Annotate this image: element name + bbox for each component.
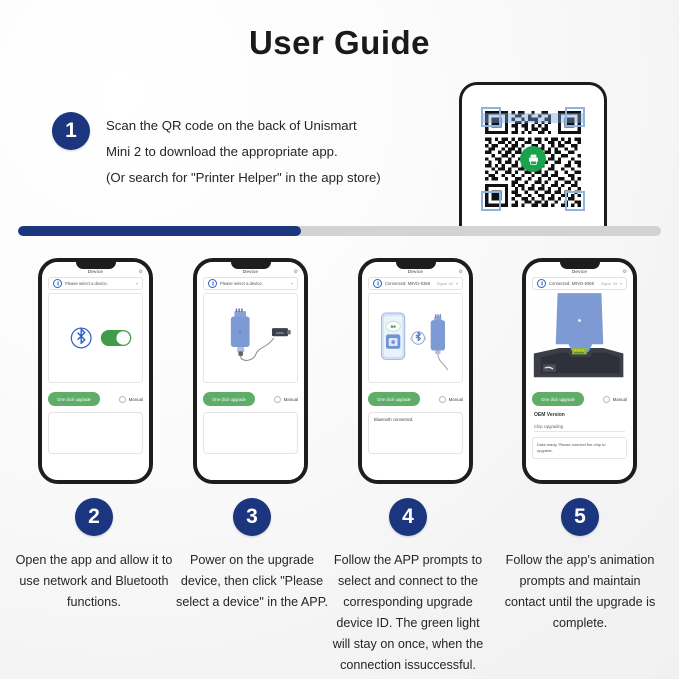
chip-contact-animation-canvas bbox=[532, 293, 627, 381]
step-1-block: 1 Scan the QR code on the back of Unisma… bbox=[52, 112, 381, 191]
device-select-bar[interactable]: Connected: M9VD-9368 Signal -45 ▾ bbox=[532, 277, 627, 290]
one-click-upgrade-button[interactable]: One click upgrade bbox=[368, 392, 420, 406]
status-message: Data ready. Please connect the chip to u… bbox=[532, 437, 627, 459]
action-controls: One click upgrade Manual bbox=[368, 390, 463, 408]
gear-icon[interactable]: ⚙ bbox=[459, 269, 463, 275]
step-3-badge: 3 bbox=[233, 498, 271, 536]
device-select-text: Please select a device. bbox=[65, 281, 133, 286]
manual-option[interactable]: Manual bbox=[119, 396, 143, 403]
bluetooth-icon bbox=[373, 279, 382, 288]
radio-icon[interactable] bbox=[274, 396, 281, 403]
caption-step-3: 3 Power on the upgrade device, then clic… bbox=[172, 498, 332, 613]
caption-step-5: 5 Follow the app's animation prompts and… bbox=[500, 498, 660, 634]
device-select-bar[interactable]: Please select a device. ▾ bbox=[48, 277, 143, 290]
manual-label: Manual bbox=[613, 397, 627, 402]
connected-device-text: Connected: M9VD-9368 bbox=[385, 281, 434, 286]
svg-text:DATA: DATA bbox=[276, 331, 285, 335]
step-3-text: Power on the upgrade device, then click … bbox=[172, 550, 332, 613]
gear-icon[interactable]: ⚙ bbox=[139, 269, 143, 275]
phone-step4: Device ⚙ Connected: M9VD-9368 Signal -54… bbox=[358, 258, 473, 484]
phone-screenshot-row: Device ⚙ Please select a device. ▾ bbox=[0, 258, 679, 488]
qr-scan-phone bbox=[459, 82, 607, 233]
manual-option[interactable]: Manual bbox=[274, 396, 298, 403]
device-cable-canvas: DATA bbox=[203, 293, 298, 383]
step-5-text: Follow the app's animation prompts and m… bbox=[500, 550, 660, 634]
device-select-bar[interactable]: Please select a device. ▾ bbox=[203, 277, 298, 290]
step-5-badge: 5 bbox=[561, 498, 599, 536]
action-controls: One click upgrade Manual bbox=[532, 390, 627, 408]
connected-device-text: Connected: M9VD-9368 bbox=[549, 281, 598, 286]
chip-upgrading-label: Chip Upgrading bbox=[534, 424, 625, 432]
step-1-line-2: Mini 2 to download the appropriate app. bbox=[106, 139, 381, 165]
bluetooth-toggle-canvas bbox=[48, 293, 143, 383]
phone-step5: Device ⚙ Connected: M9VD-9368 Signal -45… bbox=[522, 258, 637, 484]
step-4-badge: 4 bbox=[389, 498, 427, 536]
step-4-text: Follow the APP prompts to select and con… bbox=[328, 550, 488, 676]
radio-icon[interactable] bbox=[119, 396, 126, 403]
gear-icon[interactable]: ⚙ bbox=[294, 269, 298, 275]
step-captions: 2 Open the app and allow it to use netwo… bbox=[0, 498, 679, 678]
phone-bluetooth-device-canvas: ■■ ( ) bbox=[368, 293, 463, 383]
log-box bbox=[203, 412, 298, 454]
phone-step2: Device ⚙ Please select a device. ▾ bbox=[38, 258, 153, 484]
signal-strength-text: Signal -45 bbox=[601, 282, 617, 286]
one-click-upgrade-button[interactable]: One click upgrade bbox=[532, 392, 584, 406]
bluetooth-icon bbox=[537, 279, 546, 288]
step-1-line-1: Scan the QR code on the back of Unismart bbox=[106, 113, 381, 139]
gear-icon[interactable]: ⚙ bbox=[623, 269, 627, 275]
one-click-upgrade-button[interactable]: One click upgrade bbox=[203, 392, 255, 406]
one-click-upgrade-button[interactable]: One click upgrade bbox=[48, 392, 100, 406]
app-header-title: Device bbox=[526, 269, 633, 274]
action-controls: One click upgrade Manual bbox=[48, 390, 143, 408]
chevron-down-icon: ▾ bbox=[620, 281, 622, 286]
log-box bbox=[48, 412, 143, 454]
bluetooth-icon bbox=[53, 279, 62, 288]
progress-bar-fill bbox=[18, 226, 301, 236]
phone-notch bbox=[76, 262, 116, 269]
manual-label: Manual bbox=[449, 397, 463, 402]
progress-bar[interactable] bbox=[18, 226, 661, 236]
app-header-title: Device bbox=[362, 269, 469, 274]
oem-version-label: OEM Version bbox=[534, 412, 565, 418]
svg-text:■■: ■■ bbox=[390, 324, 396, 329]
manual-label: Manual bbox=[284, 397, 298, 402]
phone-notch bbox=[231, 262, 271, 269]
step-1-text: Scan the QR code on the back of Unismart… bbox=[106, 112, 381, 191]
step-1-line-3: (Or search for "Printer Helper" in the a… bbox=[106, 165, 381, 191]
qr-code-area bbox=[485, 111, 581, 207]
radio-icon[interactable] bbox=[603, 396, 610, 403]
device-select-text: Please select a device. bbox=[220, 281, 288, 286]
manual-option[interactable]: Manual bbox=[439, 396, 463, 403]
phone-notch bbox=[560, 262, 600, 269]
manual-option[interactable]: Manual bbox=[603, 396, 627, 403]
printer-icon bbox=[520, 146, 546, 172]
radio-icon[interactable] bbox=[439, 396, 446, 403]
chevron-down-icon: ▾ bbox=[291, 281, 293, 286]
step-2-badge: 2 bbox=[75, 498, 113, 536]
app-header-title: Device bbox=[197, 269, 304, 274]
log-box: Bluetooth connected. bbox=[368, 412, 463, 454]
phone-notch bbox=[396, 262, 436, 269]
svg-text:): ) bbox=[425, 336, 427, 341]
chevron-down-icon: ▾ bbox=[456, 281, 458, 286]
step-2-text: Open the app and allow it to use network… bbox=[14, 550, 174, 613]
action-controls: One click upgrade Manual bbox=[203, 390, 298, 408]
app-header-title: Device bbox=[42, 269, 149, 274]
device-select-bar[interactable]: Connected: M9VD-9368 Signal -54 ▾ bbox=[368, 277, 463, 290]
signal-strength-text: Signal -54 bbox=[437, 282, 453, 286]
page-title: User Guide bbox=[0, 24, 679, 62]
chevron-down-icon: ▾ bbox=[136, 281, 138, 286]
user-guide-page: User Guide 1 Scan the QR code on the bac… bbox=[0, 0, 679, 679]
bluetooth-icon bbox=[208, 279, 217, 288]
step-1-badge: 1 bbox=[52, 112, 90, 150]
manual-label: Manual bbox=[129, 397, 143, 402]
phone-step3: Device ⚙ Please select a device. ▾ bbox=[193, 258, 308, 484]
caption-step-4: 4 Follow the APP prompts to select and c… bbox=[328, 498, 488, 676]
caption-step-2: 2 Open the app and allow it to use netwo… bbox=[14, 498, 174, 613]
